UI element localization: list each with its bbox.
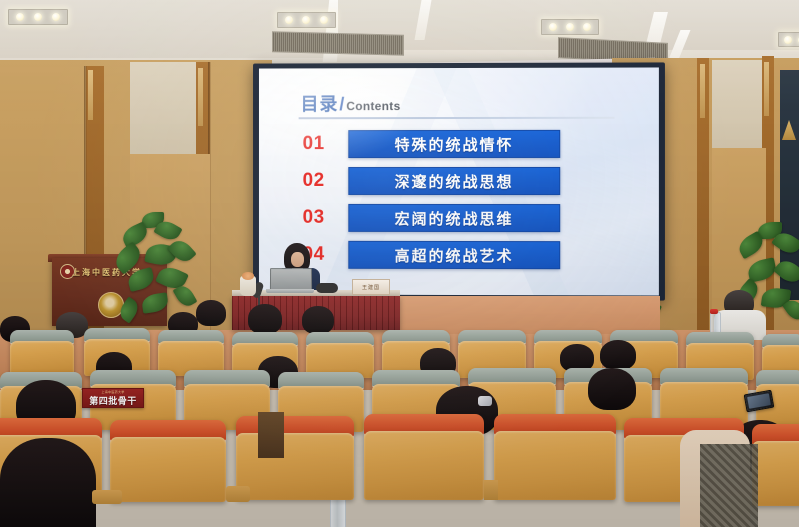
banner-title: 第四批骨干	[89, 394, 137, 407]
speaker-face	[291, 252, 304, 267]
air-vent-1	[272, 31, 404, 55]
chair-armrest	[484, 480, 498, 500]
chair-side-panel	[258, 412, 284, 458]
table-equipment	[316, 283, 338, 293]
chair	[236, 416, 354, 500]
wall-light-strip-4	[764, 62, 769, 116]
wall-light-strip-1	[88, 70, 93, 120]
projection-screen: 目录/Contents 01 特殊的统战情怀 02 深邃的统战思想 03 宏阔的…	[259, 67, 659, 295]
chair-banner: 上海中医药大学 第四批骨干	[82, 388, 144, 408]
hair-clip	[478, 396, 492, 406]
slide-item-row: 02 深邃的统战思想	[303, 167, 561, 195]
item-bar: 深邃的统战思想	[348, 167, 560, 195]
item-number: 03	[303, 207, 349, 229]
chair	[364, 414, 484, 500]
item-bar: 特殊的统战情怀	[348, 130, 560, 158]
lamp-icon	[583, 23, 591, 31]
item-number: 02	[303, 170, 349, 192]
item-text: 深邃的统战思想	[395, 170, 514, 191]
audience-head	[248, 304, 282, 334]
name-placard: 王建国	[352, 279, 390, 295]
projection-screen-frame: 目录/Contents 01 特殊的统战情怀 02 深邃的统战思想 03 宏阔的…	[253, 62, 665, 300]
flower-bloom	[242, 272, 254, 280]
audience-head	[600, 340, 636, 370]
smartphone-screen	[747, 393, 771, 409]
slide-item-row: 01 特殊的统战情怀	[303, 130, 561, 158]
slide-title: 目录/Contents	[301, 90, 401, 116]
audience-head-foreground	[0, 438, 96, 527]
slide-title-en: Contents	[346, 99, 400, 113]
lamp-icon	[302, 16, 310, 24]
item-bar: 宏阔的统战思维	[348, 204, 560, 232]
item-text: 特殊的统战情怀	[395, 133, 514, 154]
chair	[752, 424, 799, 506]
item-text: 宏阔的统战思维	[395, 207, 514, 228]
lamp-icon	[549, 23, 557, 31]
audience-head	[588, 368, 636, 410]
laptop-keyboard	[266, 289, 314, 293]
lamp-icon	[52, 13, 60, 21]
chair	[110, 420, 226, 502]
item-bar: 高超的统战艺术	[348, 241, 560, 269]
ceiling-light-2	[277, 12, 336, 28]
slide-title-cn: 目录	[301, 94, 339, 114]
chair	[494, 414, 616, 500]
slide-item-row: 04 高超的统战艺术	[303, 241, 561, 269]
lamp-icon	[34, 13, 42, 21]
lamp-icon	[566, 23, 574, 31]
chair-armrest	[226, 486, 250, 502]
audience-head	[302, 306, 334, 334]
water-bottle	[330, 496, 346, 527]
bottle-cap	[710, 309, 718, 314]
lamp-icon	[320, 16, 328, 24]
chair	[10, 330, 74, 376]
wall-light-strip-3	[700, 64, 705, 118]
lamp-icon	[16, 13, 24, 21]
audience-head	[196, 300, 226, 326]
lamp-icon	[285, 16, 293, 24]
wall-upper-plaster-right	[712, 60, 764, 148]
slide-item-row: 03 宏阔的统战思维	[303, 204, 561, 232]
chair-armrest	[92, 490, 122, 504]
lamp-icon	[784, 36, 792, 44]
ceiling-light-3	[541, 19, 599, 35]
ceiling-light-1	[8, 9, 68, 25]
item-number: 01	[303, 133, 349, 155]
presentation-photo: 目录/Contents 01 特殊的统战情怀 02 深邃的统战思想 03 宏阔的…	[0, 0, 799, 527]
wall-light-strip-2	[198, 68, 203, 126]
audience-clothing-pattern	[700, 444, 758, 527]
slide-title-slash: /	[339, 94, 345, 114]
item-text: 高超的统战艺术	[395, 244, 514, 265]
back-wall-lower	[400, 296, 660, 334]
ceiling-light-4	[778, 32, 799, 47]
name-placard-text: 王建国	[362, 284, 380, 291]
